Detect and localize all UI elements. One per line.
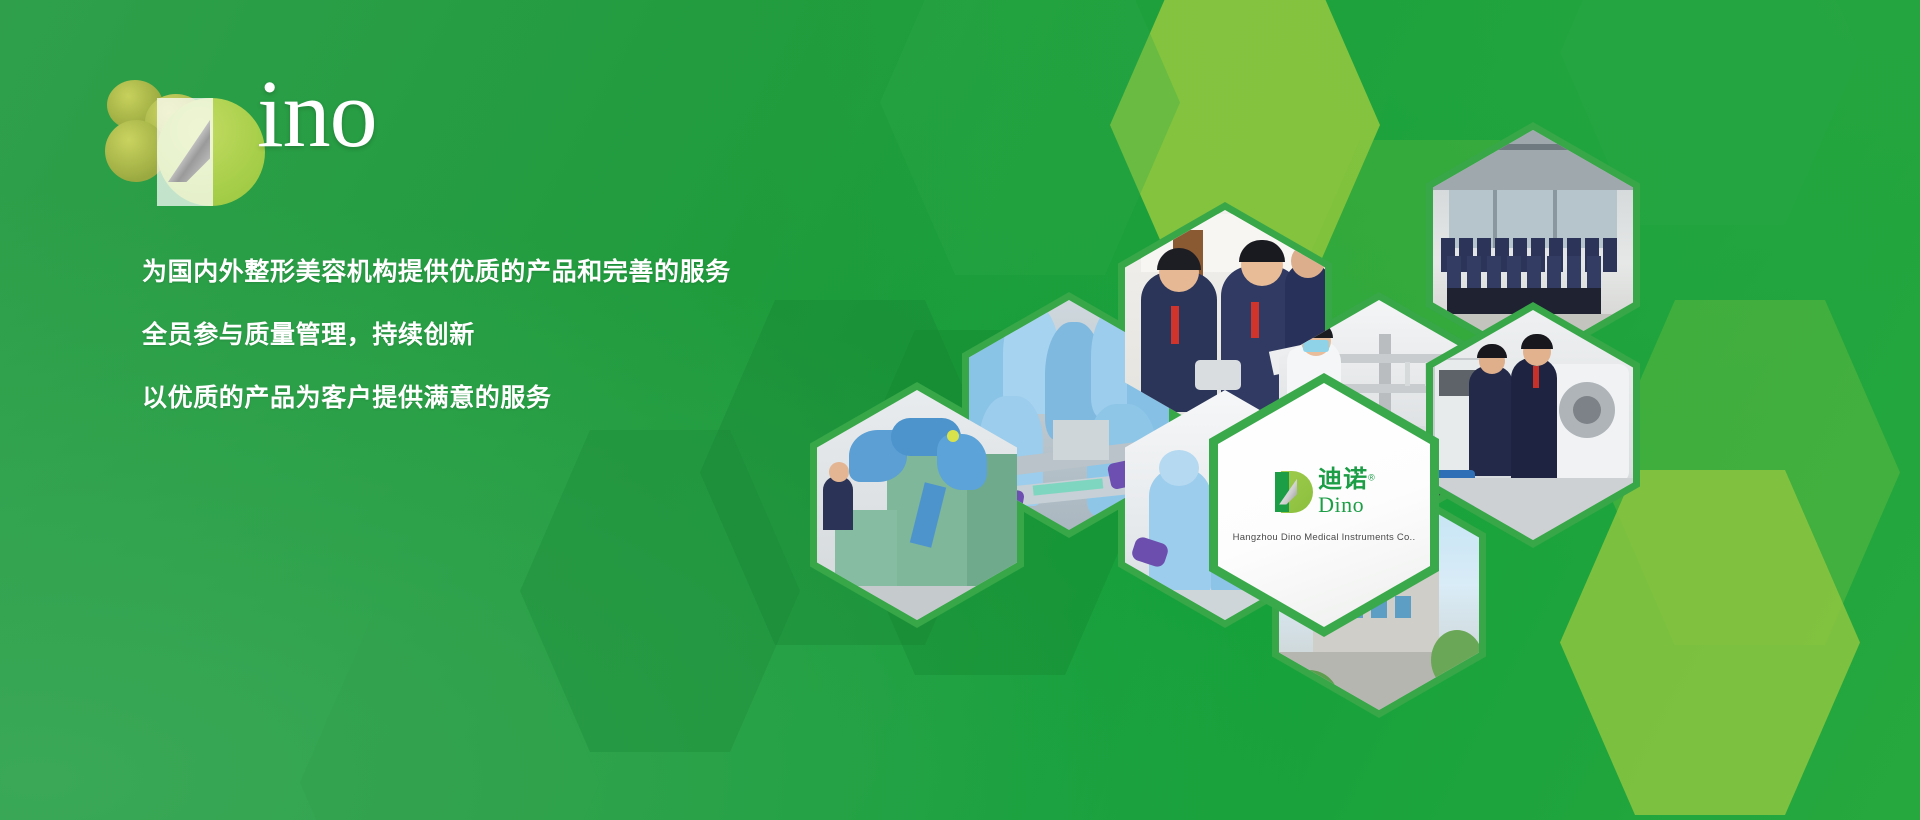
- badge-d-leaf-icon: [1273, 471, 1313, 513]
- hero-banner: ino 为国内外整形美容机构提供优质的产品和完善的服务 全员参与质量管理，持续创…: [0, 0, 1920, 820]
- badge-logo-cn: 迪诺: [1318, 466, 1368, 493]
- decorative-hexagon: [300, 610, 600, 820]
- badge-registered-mark: ®: [1368, 472, 1375, 482]
- badge-logo-en: Dino: [1318, 494, 1375, 516]
- tagline-line-3: 以优质的产品为客户提供满意的服务: [142, 386, 731, 411]
- dino-logo: ino: [105, 72, 435, 187]
- tagline-line-1: 为国内外整形美容机构提供优质的产品和完善的服务: [142, 260, 731, 285]
- tagline-block: 为国内外整形美容机构提供优质的产品和完善的服务 全员参与质量管理，持续创新 以优…: [142, 260, 731, 411]
- tagline-line-2: 全员参与质量管理，持续创新: [142, 323, 731, 348]
- hexagon-photo-cluster: 迪诺® Dino Hangzhou Dino Medical Instrumen…: [820, 120, 1920, 680]
- badge-logo-mark: 迪诺® Dino: [1273, 468, 1375, 516]
- badge-caption: Hangzhou Dino Medical Instruments Co..: [1233, 532, 1416, 543]
- logo-wordmark-text: ino: [257, 66, 377, 162]
